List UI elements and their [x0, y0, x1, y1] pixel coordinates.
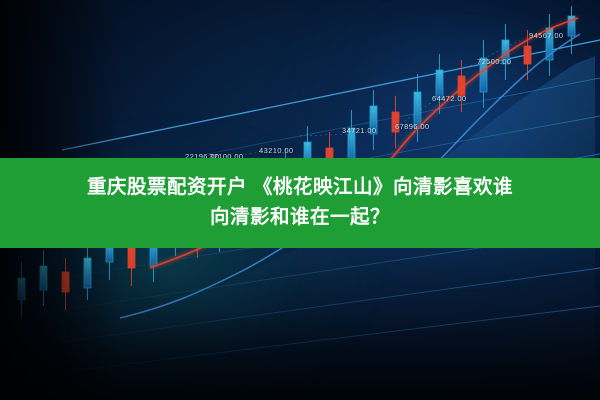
headline-line-2: 向清影和谁在一起？: [10, 202, 590, 232]
price-label: 67896.00: [395, 122, 429, 131]
headline-banner: 重庆股票配资开户 《桃花映江山》向清影喜欢谁 向清影和谁在一起？: [0, 158, 600, 248]
price-label: 72500.00: [477, 57, 511, 66]
price-label: 64472.00: [432, 94, 466, 103]
headline-line-1: 重庆股票配资开户 《桃花映江山》向清影喜欢谁: [10, 172, 590, 202]
screenshot-canvas: 94567.0072500.0064472.0067896.0034721.00…: [0, 0, 600, 400]
price-label: 43210.00: [259, 146, 293, 155]
vignette-bottom: [0, 250, 600, 400]
price-label: 34721.00: [342, 126, 376, 135]
candle-body: [524, 46, 531, 64]
price-label: 94567.00: [529, 31, 563, 40]
